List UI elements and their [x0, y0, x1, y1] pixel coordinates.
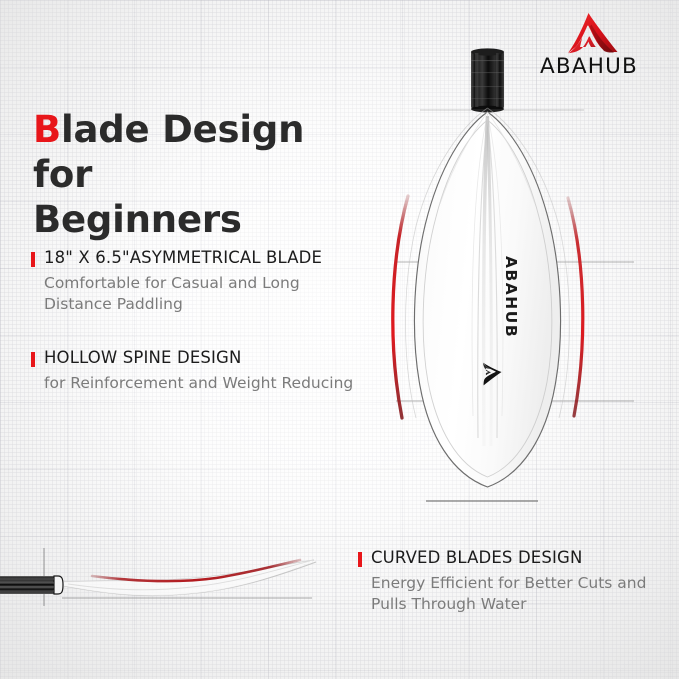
feature-title: 18" X 6.5"ASYMMETRICAL BLADE	[44, 249, 322, 268]
feature-item-asymmetrical-blade: 18" X 6.5"ASYMMETRICAL BLADE Comfortable…	[31, 249, 371, 316]
feature-subtitle: Energy Efficient for Better Cuts and Pul…	[371, 573, 658, 616]
bullet-marker-icon	[31, 252, 35, 267]
headline-line-2: Beginners	[33, 198, 242, 241]
headline-line-1: lade Design for	[33, 108, 304, 196]
feature-subtitle: Comfortable for Casual and Long Distance…	[44, 273, 371, 316]
product-feature-infographic: ABAHUB Blade Design for Beginners 18" X …	[0, 0, 679, 679]
feature-title-row: HOLLOW SPINE DESIGN	[31, 349, 391, 368]
page-title: Blade Design for Beginners	[33, 108, 363, 242]
bullet-marker-icon	[358, 552, 362, 567]
feature-title: CURVED BLADES DESIGN	[371, 549, 582, 568]
feature-title-row: 18" X 6.5"ASYMMETRICAL BLADE	[31, 249, 371, 268]
abahub-chevron-logo-icon	[558, 12, 620, 54]
brand-name-text: ABAHUB	[521, 56, 657, 78]
brand-logo: ABAHUB	[521, 12, 657, 78]
feature-item-curved-blades-design: CURVED BLADES DESIGN Energy Efficient fo…	[358, 549, 658, 616]
headline-accent-letter: B	[33, 108, 61, 151]
feature-item-hollow-spine-design: HOLLOW SPINE DESIGN for Reinforcement an…	[31, 349, 391, 394]
feature-title: HOLLOW SPINE DESIGN	[44, 349, 242, 368]
bullet-marker-icon	[31, 352, 35, 367]
feature-title-row: CURVED BLADES DESIGN	[358, 549, 658, 568]
feature-subtitle: for Reinforcement and Weight Reducing	[44, 373, 391, 394]
